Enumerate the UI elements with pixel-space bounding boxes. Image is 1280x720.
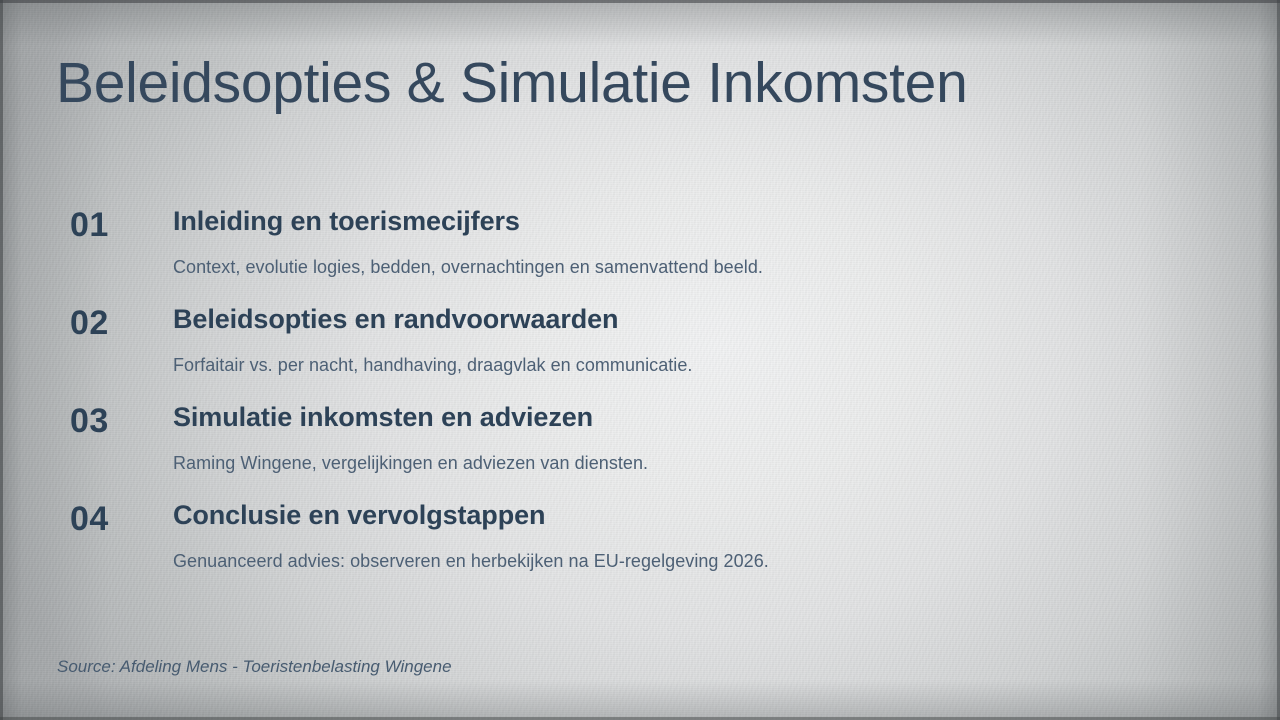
agenda-item-04: 04 Conclusie en vervolgstappen Genuancee… <box>0 490 1280 588</box>
slide-content: Beleidsopties & Simulatie Inkomsten 01 I… <box>0 0 1280 720</box>
agenda-list: 01 Inleiding en toerismecijfers Context,… <box>0 196 1280 588</box>
source-attribution: Source: Afdeling Mens - Toeristenbelasti… <box>57 657 452 677</box>
presentation-slide: Beleidsopties & Simulatie Inkomsten 01 I… <box>0 0 1280 720</box>
agenda-item-title: Conclusie en vervolgstappen <box>173 500 545 531</box>
agenda-item-description: Context, evolutie logies, bedden, overna… <box>173 257 763 278</box>
agenda-item-01: 01 Inleiding en toerismecijfers Context,… <box>0 196 1280 294</box>
agenda-item-description: Raming Wingene, vergelijkingen en adviez… <box>173 453 648 474</box>
agenda-item-description: Forfaitair vs. per nacht, handhaving, dr… <box>173 355 692 376</box>
agenda-item-title: Simulatie inkomsten en adviezen <box>173 402 593 433</box>
agenda-item-title: Inleiding en toerismecijfers <box>173 206 520 237</box>
agenda-item-title: Beleidsopties en randvoorwaarden <box>173 304 618 335</box>
agenda-item-number: 03 <box>70 402 162 441</box>
agenda-item-02: 02 Beleidsopties en randvoorwaarden Forf… <box>0 294 1280 392</box>
agenda-item-03: 03 Simulatie inkomsten en adviezen Ramin… <box>0 392 1280 490</box>
agenda-item-number: 02 <box>70 304 162 343</box>
page-title: Beleidsopties & Simulatie Inkomsten <box>56 50 967 116</box>
agenda-item-description: Genuanceerd advies: observeren en herbek… <box>173 551 769 572</box>
agenda-item-number: 01 <box>70 206 162 245</box>
agenda-item-number: 04 <box>70 500 162 539</box>
